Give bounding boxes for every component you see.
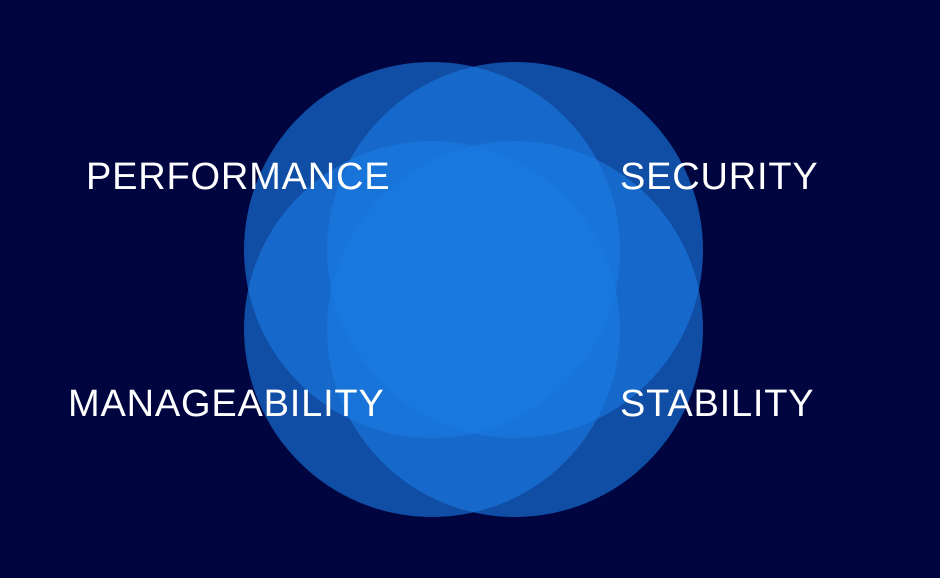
venn-label-performance: PERFORMANCE — [86, 158, 390, 196]
venn-circles-group — [0, 0, 940, 578]
venn-diagram-canvas: PERFORMANCE SECURITY MANAGEABILITY STABI… — [0, 0, 940, 578]
venn-label-security: SECURITY — [620, 158, 819, 196]
venn-label-stability: STABILITY — [620, 385, 814, 423]
venn-label-manageability: MANAGEABILITY — [68, 385, 385, 423]
venn-circles — [244, 62, 703, 517]
